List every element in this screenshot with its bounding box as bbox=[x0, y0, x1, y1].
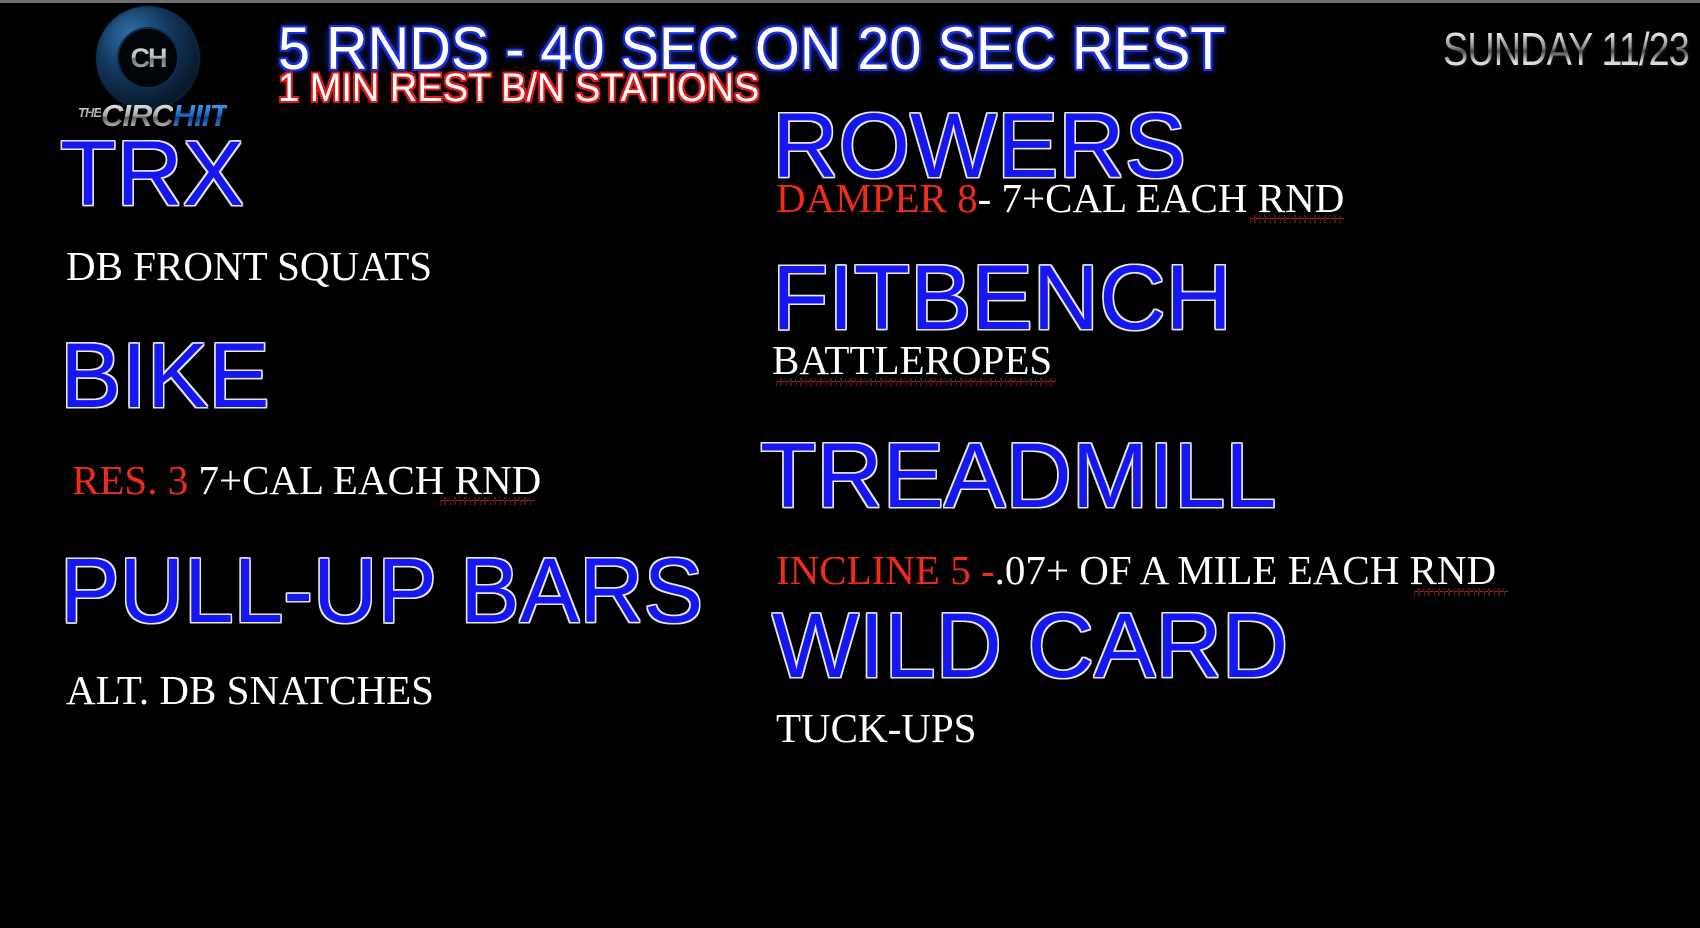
top-divider-rule bbox=[0, 0, 1700, 3]
station-detail-trx: DB FRONT SQUATS bbox=[66, 246, 432, 287]
header-rest-line: 1 MIN REST B/N STATIONS bbox=[278, 66, 759, 111]
logo-the-text: THE bbox=[78, 105, 101, 120]
station-detail-treadmill: INCLINE 5 -.07+ OF A MILE EACH RND bbox=[776, 550, 1496, 591]
spellcheck-squiggle-icon bbox=[776, 378, 1056, 386]
station-title-pull-up-bars: PULL-UP BARS bbox=[60, 545, 703, 637]
station-detail-accent-rowers: DAMPER 8 bbox=[776, 175, 978, 221]
spellcheck-squiggle-icon bbox=[1414, 588, 1508, 596]
station-detail-pull-up-bars: ALT. DB SNATCHES bbox=[66, 670, 434, 711]
station-detail-accent-bike: RES. 3 bbox=[72, 457, 188, 503]
station-title-fitbench: FITBENCH bbox=[772, 252, 1232, 344]
station-title-wild-card: WILD CARD bbox=[772, 600, 1288, 692]
station-detail-fitbench: BATTLEROPES bbox=[772, 340, 1052, 381]
circhiit-logo: CH THECIRCHIIT bbox=[78, 6, 278, 131]
station-detail-text-treadmill: .07+ OF A MILE EACH RND bbox=[995, 547, 1497, 593]
spellcheck-squiggle-icon bbox=[440, 497, 534, 505]
station-detail-text-trx: DB FRONT SQUATS bbox=[66, 243, 432, 289]
station-detail-bike: RES. 3 7+CAL EACH RND bbox=[72, 460, 541, 501]
station-title-treadmill: TREADMILL bbox=[760, 430, 1276, 522]
station-detail-text-fitbench: BATTLEROPES bbox=[772, 337, 1052, 383]
workout-board: CH THECIRCHIIT 5 RNDS - 40 SEC ON 20 SEC… bbox=[0, 0, 1700, 928]
header-date: SUNDAY 11/23 bbox=[1443, 22, 1689, 76]
station-detail-wild-card: TUCK-UPS bbox=[776, 708, 976, 749]
station-detail-accent-treadmill: INCLINE 5 - bbox=[776, 547, 995, 593]
spellcheck-squiggle-icon bbox=[1250, 215, 1344, 223]
station-detail-rowers: DAMPER 8- 7+CAL EACH RND bbox=[776, 178, 1344, 219]
station-detail-text-pull-up-bars: ALT. DB SNATCHES bbox=[66, 667, 434, 713]
logo-monogram: CH bbox=[114, 38, 182, 78]
station-title-bike: BIKE bbox=[60, 330, 270, 422]
station-title-trx: TRX bbox=[60, 128, 244, 220]
station-detail-text-wild-card: TUCK-UPS bbox=[776, 705, 976, 751]
